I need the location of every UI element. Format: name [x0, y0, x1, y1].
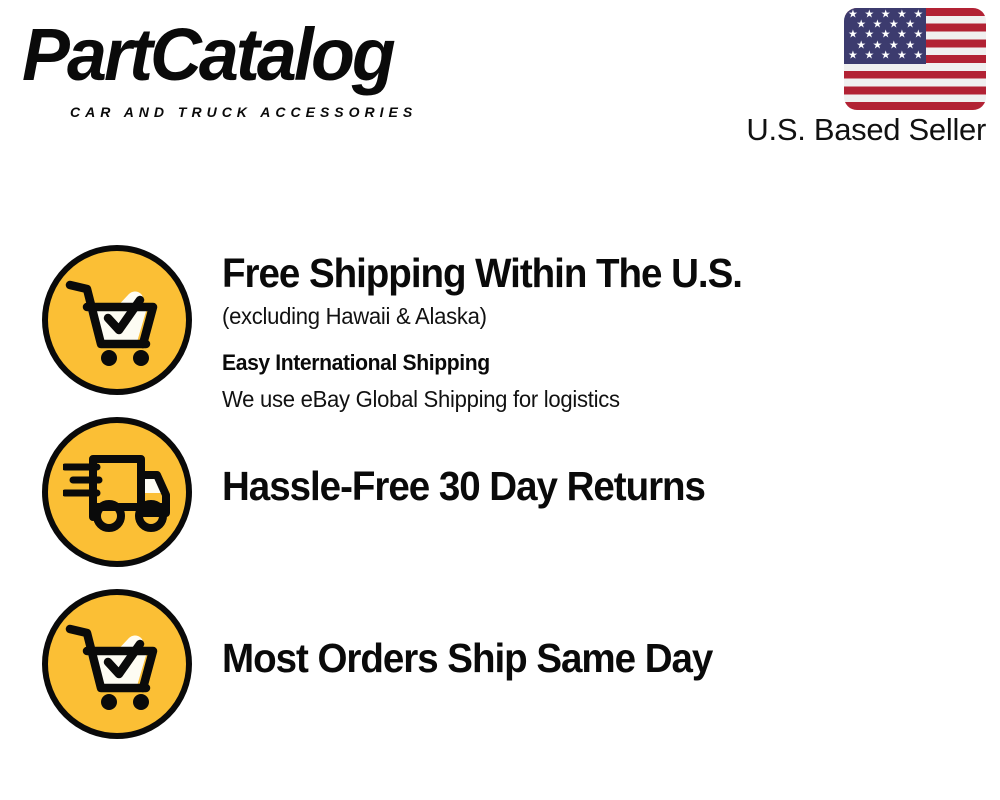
feature-title: Free Shipping Within The U.S. [222, 252, 946, 295]
flag-stars: ★ ★ ★ ★ ★ ★ ★ ★ ★ ★ ★ ★ ★ ★ ★ ★ ★ ★ ★ ★ [844, 8, 926, 64]
brand-logo[interactable]: PartCatalog CAR AND TRUCK ACCESSORIES [22, 18, 492, 118]
feature-row: Hassle-Free 30 Day Returns [0, 412, 1000, 572]
feature-row: Most Orders Ship Same Day [0, 584, 1000, 744]
us-flag-icon: ★ ★ ★ ★ ★ ★ ★ ★ ★ ★ ★ ★ ★ ★ ★ ★ ★ ★ ★ ★ [844, 8, 986, 110]
seller-badge-label: U.S. Based Seller [706, 112, 986, 148]
feature-text-block: Hassle-Free 30 Day Returns [222, 465, 992, 508]
shopping-cart-check-icon [42, 245, 192, 395]
brand-tagline: CAR AND TRUCK ACCESSORIES [70, 104, 417, 120]
page-header: PartCatalog CAR AND TRUCK ACCESSORIES ★ … [0, 0, 1000, 170]
feature-title: Most Orders Ship Same Day [222, 637, 946, 680]
shopping-cart-check-icon [42, 589, 192, 739]
delivery-truck-icon [42, 417, 192, 567]
feature-secondary-title: Easy International Shipping [222, 347, 961, 379]
feature-title: Hassle-Free 30 Day Returns [222, 465, 946, 508]
feature-text-block: Free Shipping Within The U.S. (excluding… [222, 252, 992, 417]
brand-name: PartCatalog [22, 12, 393, 97]
feature-row: Free Shipping Within The U.S. (excluding… [0, 240, 1000, 400]
feature-text-block: Most Orders Ship Same Day [222, 637, 992, 680]
seller-badge: ★ ★ ★ ★ ★ ★ ★ ★ ★ ★ ★ ★ ★ ★ ★ ★ ★ ★ ★ ★ [706, 8, 986, 148]
feature-subtitle: (excluding Hawaii & Alaska) [222, 299, 961, 334]
